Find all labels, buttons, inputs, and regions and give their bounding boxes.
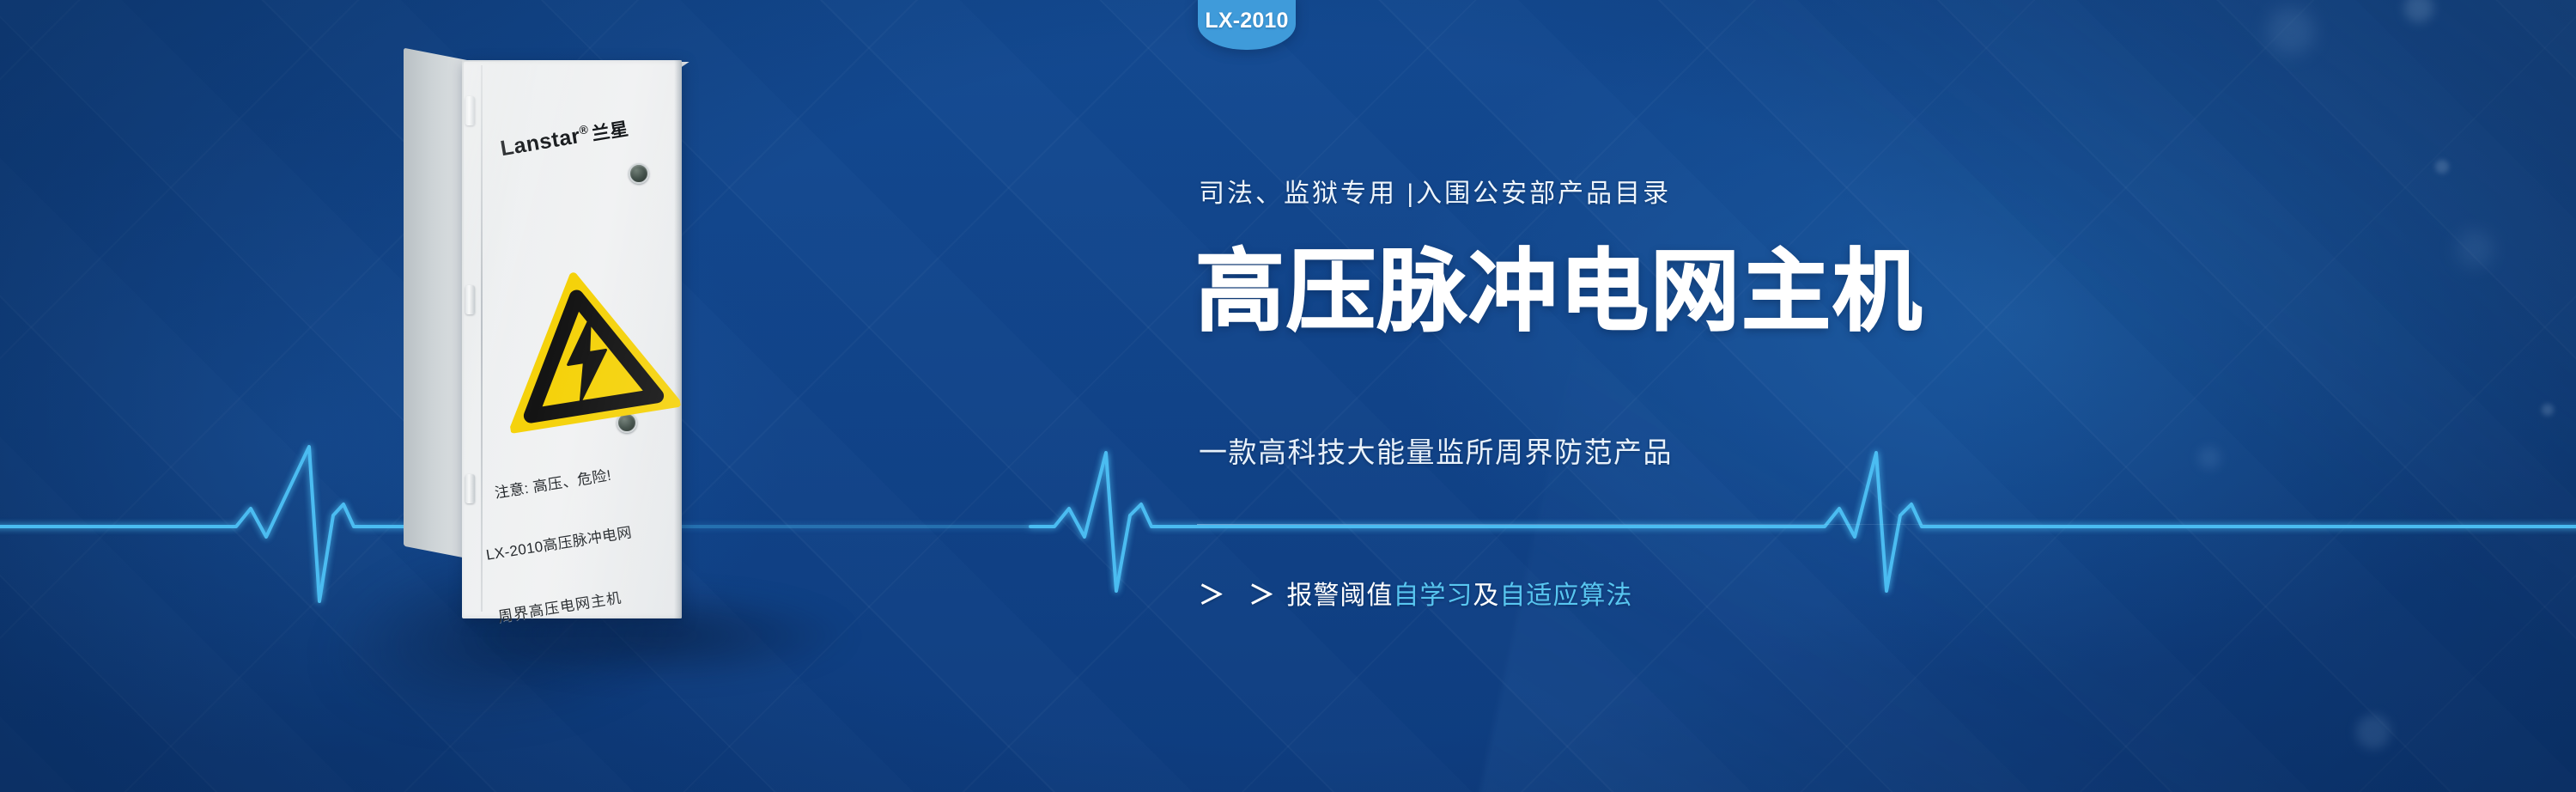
product-image: Lanstar®兰星 注意: 高压、危险! LX-2010高压脉冲电网 周界高压… bbox=[369, 52, 1005, 704]
enclosure-hinge bbox=[465, 96, 475, 125]
enclosure-door-seam bbox=[481, 65, 483, 612]
tagline-text: 一款高科技大能量监所周界防范产品 bbox=[1199, 430, 1673, 471]
indicator-led-top bbox=[629, 163, 649, 184]
registered-trademark-icon: ® bbox=[578, 122, 589, 137]
enclosure-side-face bbox=[404, 48, 467, 558]
feature-text-part3: 及 bbox=[1473, 582, 1499, 610]
enclosure-hinge bbox=[465, 474, 475, 503]
page-title: 高压脉冲电网主机 bbox=[1195, 247, 1923, 337]
product-hero-banner: Lanstar®兰星 注意: 高压、危险! LX-2010高压脉冲电网 周界高压… bbox=[0, 0, 2576, 792]
enclosure-front-edge bbox=[674, 60, 682, 618]
feature-text-highlight-2: 自适应算法 bbox=[1499, 582, 1632, 610]
feature-text-part1: 报警阈值 bbox=[1286, 582, 1393, 610]
hero-copy: 司法、监狱专用 |入围公安部产品目录 高压脉冲电网主机 一款高科技大能量监所周界… bbox=[1199, 0, 2401, 792]
kicker-text: 司法、监狱专用 |入围公安部产品目录 bbox=[1199, 172, 1671, 210]
copy-divider bbox=[1197, 524, 2124, 525]
high-voltage-triangle-icon bbox=[488, 259, 681, 435]
chevron-right-icon: ＞ ＞ bbox=[1199, 582, 1283, 610]
feature-link[interactable]: ＞ ＞报警阈值自学习及自适应算法 bbox=[1199, 574, 1632, 612]
feature-text-highlight-1: 自学习 bbox=[1393, 582, 1473, 610]
enclosure-hinge bbox=[465, 285, 475, 314]
brand-name-chinese: 兰星 bbox=[591, 119, 630, 145]
